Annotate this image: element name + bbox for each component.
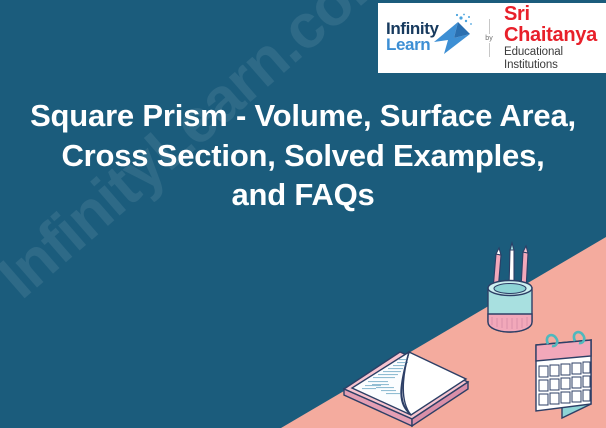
infinity-learn-logo: Infinity Learn — [384, 8, 476, 68]
pencil-pink-left — [493, 248, 501, 291]
logo-separator: by — [476, 17, 502, 59]
sri-chaitanya-logo: Sri Chaitanya Educational Institutions — [502, 4, 606, 72]
infinity-learn-bird-arrow-icon — [428, 12, 476, 60]
sri-chaitanya-title: Sri Chaitanya — [504, 4, 606, 46]
page-title: Square Prism - Volume, Surface Area, Cro… — [30, 96, 576, 215]
pencil-pink-right — [521, 246, 528, 289]
by-label: by — [483, 34, 494, 43]
sri-chaitanya-subtitle: Educational Institutions — [504, 46, 606, 72]
brand-logo-panel: Infinity Learn by Sri Chaitanya Educatio… — [378, 3, 606, 73]
banner-canvas: InfinityLearn.com Square Prism - Volume,… — [0, 0, 606, 428]
pencil-teal-center — [509, 243, 514, 288]
